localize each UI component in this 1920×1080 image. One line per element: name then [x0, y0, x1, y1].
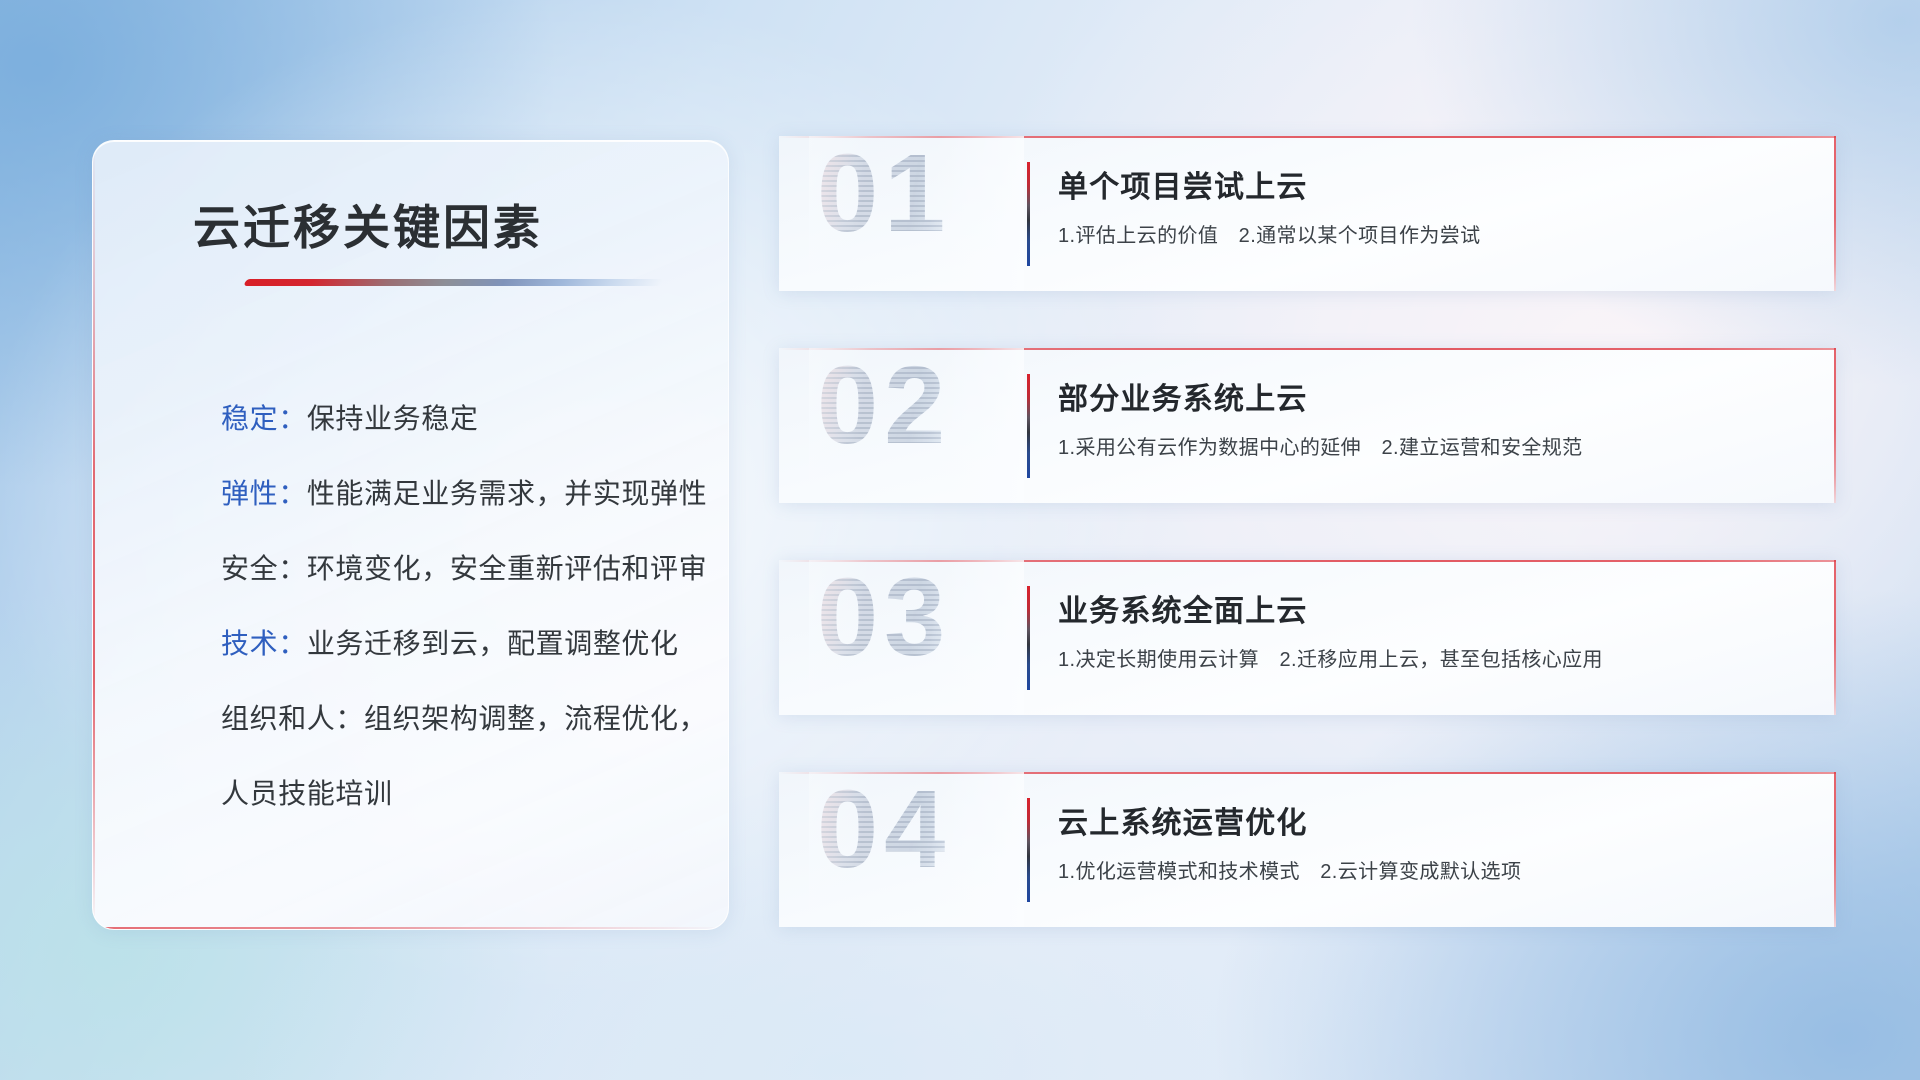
key-factor-row: 组织和人：组织架构调整，流程优化， [221, 681, 688, 756]
key-factor-row: 稳定：保持业务稳定 [221, 381, 688, 456]
key-factors-list: 稳定：保持业务稳定弹性：性能满足业务需求，并实现弹性安全：环境变化，安全重新评估… [221, 381, 688, 831]
stage-divider-bar [1027, 162, 1030, 266]
stage-divider-bar [1027, 374, 1030, 478]
stage-subtitle: 1.优化运营模式和技术模式 2.云计算变成默认选项 [1058, 855, 1521, 884]
key-factor-label: 技术： [221, 628, 307, 659]
key-factor-label: 组织和人： [221, 703, 364, 734]
stage-title: 部分业务系统上云 [1058, 374, 1308, 418]
key-factors-panel: 云迁移关键因素 稳定：保持业务稳定弹性：性能满足业务需求，并实现弹性安全：环境变… [92, 140, 729, 930]
key-factor-text: 人员技能培训 [221, 778, 393, 809]
stage-number: 04 [817, 772, 951, 893]
migration-stage-cards: 01单个项目尝试上云1.评估上云的价值 2.通常以某个项目作为尝试02部分业务系… [779, 136, 1836, 984]
key-factor-label: 弹性： [221, 478, 307, 509]
stage-divider-bar [1027, 586, 1030, 690]
title-underline-gradient [243, 279, 663, 286]
stage-title: 云上系统运营优化 [1058, 798, 1308, 842]
key-factor-text: 组织架构调整，流程优化， [364, 703, 707, 734]
key-factor-text: 环境变化，安全重新评估和评审 [307, 553, 707, 584]
key-factor-label: 稳定： [221, 403, 307, 434]
key-factor-row: 弹性：性能满足业务需求，并实现弹性 [221, 456, 688, 531]
stage-subtitle: 1.评估上云的价值 2.通常以某个项目作为尝试 [1058, 219, 1481, 248]
stage-number: 03 [817, 560, 951, 681]
stage-number: 02 [817, 348, 951, 469]
stage-subtitle: 1.采用公有云作为数据中心的延伸 2.建立运营和安全规范 [1058, 431, 1583, 460]
stage-divider-bar [1027, 798, 1030, 902]
panel-title: 云迁移关键因素 [193, 189, 543, 258]
stage-card[interactable]: 02部分业务系统上云1.采用公有云作为数据中心的延伸 2.建立运营和安全规范 [779, 348, 1836, 503]
stage-number: 01 [817, 136, 951, 257]
stage-subtitle: 1.决定长期使用云计算 2.迁移应用上云，甚至包括核心应用 [1058, 643, 1603, 672]
key-factor-row: 安全：环境变化，安全重新评估和评审 [221, 531, 688, 606]
stage-card[interactable]: 03业务系统全面上云1.决定长期使用云计算 2.迁移应用上云，甚至包括核心应用 [779, 560, 1836, 715]
key-factor-label: 安全： [221, 553, 307, 584]
key-factor-row: 人员技能培训 [221, 756, 688, 831]
key-factor-text: 性能满足业务需求，并实现弹性 [307, 478, 707, 509]
stage-title: 业务系统全面上云 [1058, 586, 1308, 630]
key-factor-row: 技术：业务迁移到云，配置调整优化 [221, 606, 688, 681]
stage-title: 单个项目尝试上云 [1058, 162, 1308, 206]
stage-card[interactable]: 04云上系统运营优化1.优化运营模式和技术模式 2.云计算变成默认选项 [779, 772, 1836, 927]
stage-card[interactable]: 01单个项目尝试上云1.评估上云的价值 2.通常以某个项目作为尝试 [779, 136, 1836, 291]
key-factor-text: 业务迁移到云，配置调整优化 [307, 628, 679, 659]
key-factor-text: 保持业务稳定 [307, 403, 479, 434]
